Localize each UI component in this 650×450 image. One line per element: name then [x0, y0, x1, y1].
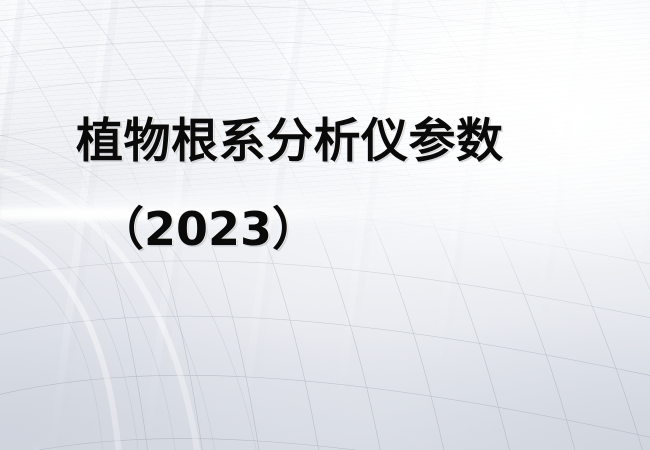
slide-title-block: 植物根系分析仪参数 （2023） — [0, 118, 650, 252]
slide-title-line-2: （2023） — [98, 206, 650, 252]
slide-title-line-1: 植物根系分析仪参数 — [76, 118, 650, 165]
title-slide: 植物根系分析仪参数 （2023） — [0, 0, 650, 450]
